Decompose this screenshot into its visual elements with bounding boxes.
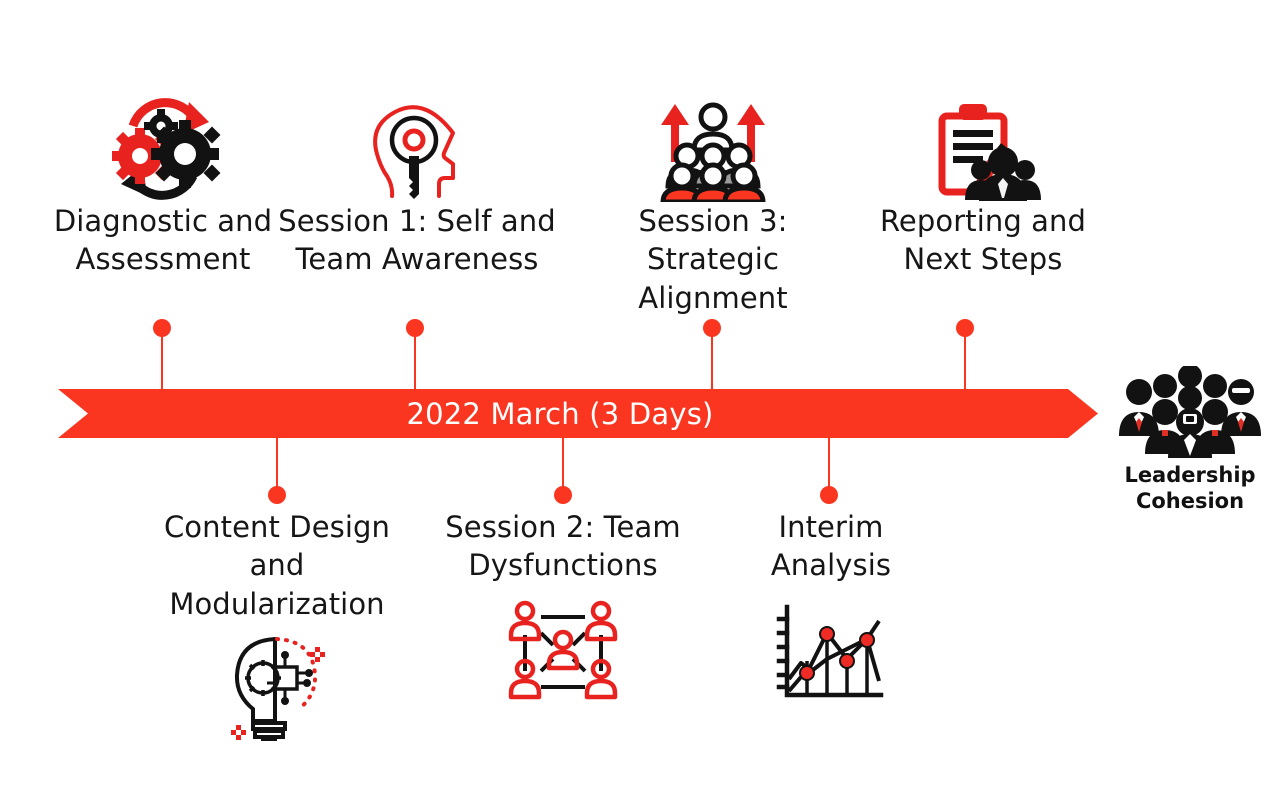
- pin-marker-top-3: [703, 319, 721, 391]
- head-key-icon: [272, 92, 562, 202]
- pin-marker-top-2: [406, 319, 424, 391]
- milestone-reporting-and-next-steps[interactable]: Reporting and Next Steps: [848, 92, 1118, 279]
- pin-marker-top-1: [153, 319, 171, 391]
- pin-stem: [414, 335, 416, 391]
- people-network-icon: [418, 595, 708, 705]
- pin-marker-bottom-2: [554, 437, 572, 509]
- milestone-label: Interim Analysis: [733, 508, 929, 585]
- outcome-label: Leadership Cohesion: [1104, 462, 1276, 515]
- milestone-content-design-and-modularization[interactable]: Content Design and Modularization: [132, 508, 422, 743]
- milestone-diagnostic-and-assessment[interactable]: Diagnostic and Assessment: [18, 92, 308, 279]
- outcome-leadership-cohesion[interactable]: Leadership Cohesion: [1104, 366, 1276, 515]
- pin-marker-bottom-3: [820, 437, 838, 509]
- pin-stem: [161, 335, 163, 391]
- milestone-label: Session 2: Team Dysfunctions: [418, 508, 708, 585]
- milestone-label: Session 3: Strategic Alignment: [568, 202, 858, 317]
- timeline-infographic: Diagnostic and Assessment Session 1: Sel…: [0, 0, 1280, 800]
- pin-marker-top-4: [956, 319, 974, 391]
- milestone-label: Diagnostic and Assessment: [18, 202, 308, 279]
- timeline-bar: 2022 March (3 Days): [58, 389, 1098, 438]
- milestone-label: Reporting and Next Steps: [848, 202, 1118, 279]
- pin-stem: [276, 437, 278, 493]
- timeline-bar-label: 2022 March (3 Days): [58, 389, 1098, 438]
- team-hierarchy-arrows-icon: [568, 92, 858, 202]
- crowd-people-icon: [1104, 366, 1276, 458]
- lightbulb-circuit-icon: [132, 633, 422, 743]
- milestone-session-3-strategic-alignment[interactable]: Session 3: Strategic Alignment: [568, 92, 858, 317]
- pin-marker-bottom-1: [268, 437, 286, 509]
- pin-stem: [711, 335, 713, 391]
- clipboard-people-icon: [848, 92, 1118, 202]
- pin-dot: [268, 486, 286, 504]
- milestone-session-2-team-dysfunctions[interactable]: Session 2: Team Dysfunctions: [418, 508, 708, 705]
- milestone-session-1-self-and-team-awareness[interactable]: Session 1: Self and Team Awareness: [272, 92, 562, 279]
- pin-stem: [964, 335, 966, 391]
- milestone-label: Session 1: Self and Team Awareness: [272, 202, 562, 279]
- pin-dot: [820, 486, 838, 504]
- pin-stem: [828, 437, 830, 493]
- milestone-interim-analysis[interactable]: Interim Analysis: [733, 508, 929, 705]
- milestone-label: Content Design and Modularization: [132, 508, 422, 623]
- gears-cycle-icon: [18, 92, 308, 202]
- pin-dot: [554, 486, 572, 504]
- line-chart-icon: [733, 595, 929, 705]
- pin-stem: [562, 437, 564, 493]
